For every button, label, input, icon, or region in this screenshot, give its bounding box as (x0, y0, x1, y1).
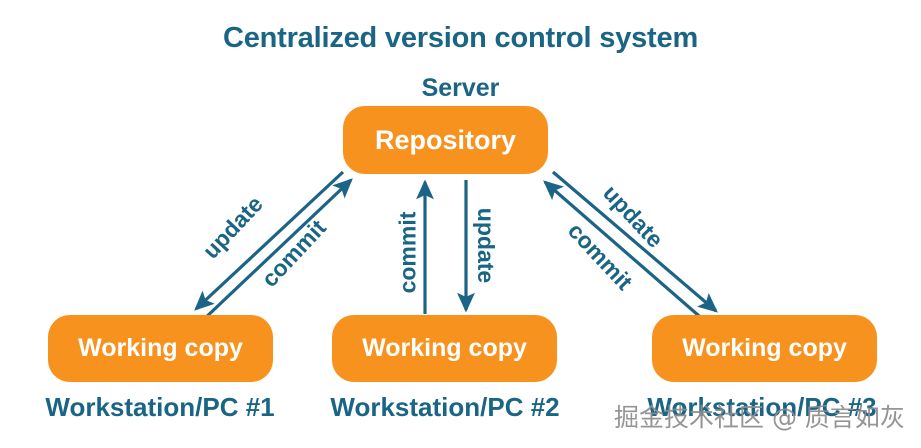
working-copy-node-2[interactable]: Working copy (332, 315, 557, 382)
working-copy-node-3[interactable]: Working copy (652, 315, 877, 382)
server-label: Server (0, 74, 921, 103)
watermark-text: 掘金技术社区 @ 质言如灰 (614, 398, 905, 434)
workstation-caption-1: Workstation/PC #1 (20, 392, 300, 423)
arrow-label-middle-update: update (472, 188, 499, 303)
workstation-caption-2: Workstation/PC #2 (305, 392, 585, 423)
arrow-label-middle-commit: commit (395, 193, 422, 313)
working-copy-node-1[interactable]: Working copy (48, 315, 273, 382)
diagram-canvas: Centralized version control system Serve… (0, 0, 921, 448)
page-title: Centralized version control system (0, 22, 921, 55)
repository-node[interactable]: Repository (343, 106, 548, 174)
